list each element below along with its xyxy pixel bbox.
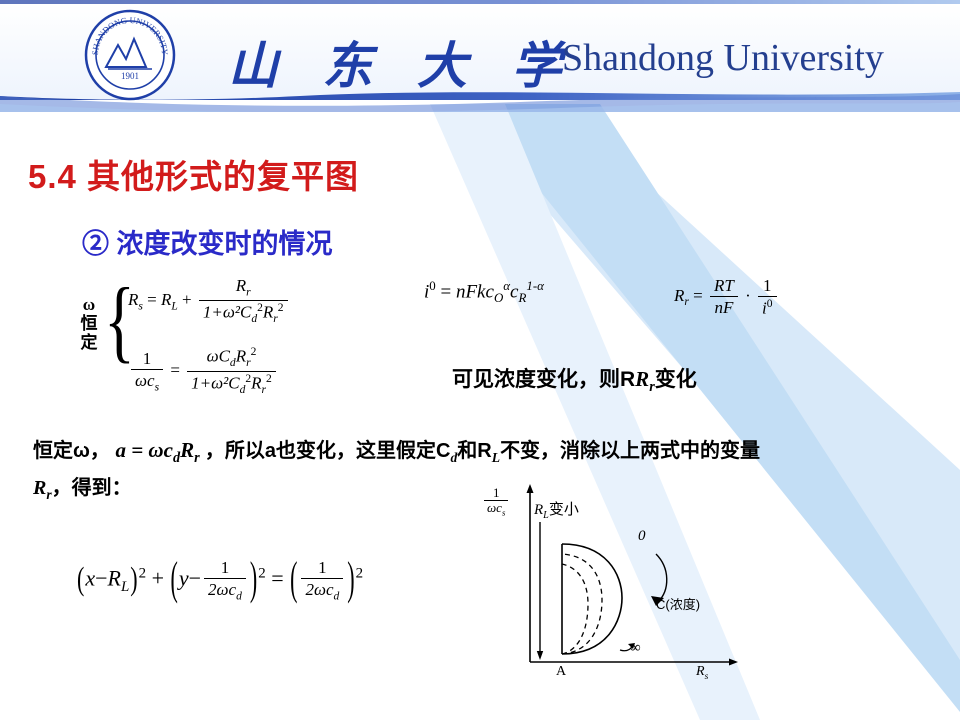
- eq5-fraction-right: 12ωcd: [301, 558, 343, 603]
- eq2-rhs-den: 1+ω²Cd2Rr2: [187, 372, 276, 397]
- para-mid: ，所以a也变化，这里假定C: [205, 440, 451, 462]
- eq1-frac-numerator: Rr: [199, 276, 288, 301]
- eq2-lhs-den: ωcs: [131, 370, 163, 394]
- equation-rr: Rr = RT nF · 1 i0: [674, 276, 780, 318]
- equation-exchange-current: i0 = nFkcOαcR1-α: [424, 278, 544, 306]
- eq2-equals: =: [170, 360, 180, 379]
- eq2-rhs-num: ωCdRr2: [187, 346, 276, 372]
- eq1-rl: R: [161, 290, 171, 309]
- eq4-f2-den: i0: [758, 297, 777, 318]
- eq4-fraction-2: 1 i0: [758, 276, 777, 318]
- para-mid3: 不变，消除以上两式中的变量: [500, 440, 760, 462]
- para-a-equation: a = ωcdRr: [115, 438, 204, 462]
- eq3-rhs: nFkc: [456, 281, 494, 302]
- eq1-rs-sub: s: [138, 299, 143, 312]
- diagram-infinity-label: ∞: [630, 640, 641, 657]
- omega-label-line2: 恒: [72, 314, 106, 333]
- svg-text:1901: 1901: [121, 71, 139, 81]
- eq1-frac-denominator: 1+ω²Cd2Rr2: [199, 301, 288, 326]
- eq1-rs: R: [128, 290, 138, 309]
- eq2-rhs-fraction: ωCdRr2 1+ω²Cd2Rr2: [187, 346, 276, 397]
- diagram-point-a-label: A: [556, 664, 566, 680]
- university-name-cn: 山 东 大 学: [228, 26, 578, 98]
- para-end: ，得到：: [52, 477, 132, 499]
- shandong-university-seal-icon: 1901 SHANDONG UNIVERSITY: [84, 9, 176, 101]
- para-rl-sub: L: [492, 440, 500, 462]
- complex-plane-diagram: 1 ωcs RL变小 0 C(浓度) ∞ A Rs: [470, 482, 760, 692]
- equation-inverse-omega-cs: 1 ωcs = ωCdRr2 1+ω²Cd2Rr2: [128, 346, 279, 397]
- section-title-text: 其他形式的复平图: [87, 158, 359, 195]
- equation-rs: Rs = RsL + Rr 1+ω²Cd2Rr2: [128, 276, 291, 326]
- eq1-equals: =: [147, 290, 157, 309]
- para-prefix: 恒定ω，: [33, 440, 110, 462]
- eq2-lhs-fraction: 1 ωcs: [131, 349, 163, 394]
- eq1-fraction: Rr 1+ω²Cd2Rr2: [199, 276, 288, 326]
- page-title: 5.4 其他形式的复平图: [28, 150, 359, 198]
- para-rr-symbol: Rr: [33, 477, 52, 499]
- note-concentration-change: 可见浓度变化，则RRr变化: [452, 363, 697, 396]
- diagram-zero-label: 0: [638, 528, 646, 545]
- eq5-fraction-left: 12ωcd: [204, 558, 246, 603]
- section-number: 5.4: [28, 158, 77, 195]
- para-mid2: 和R: [457, 440, 491, 462]
- slide-subtitle: ② 浓度改变时的情况: [82, 222, 333, 261]
- omega-symbol: ω: [72, 295, 106, 314]
- equation-circle: (x−RL)2 + (y−12ωcd)2 = (12ωcd)2: [76, 558, 363, 603]
- diagram-y-axis-label: 1 ωcs: [484, 486, 508, 519]
- eq1-rl-sub: L: [171, 299, 177, 312]
- diagram-concentration-label: C(浓度): [656, 594, 700, 613]
- university-name-en: Shandong University: [562, 36, 884, 80]
- diagram-rl-decrease-label: RL变小: [534, 498, 579, 521]
- eq1-plus: +: [182, 290, 192, 309]
- omega-label-line3: 定: [72, 333, 106, 352]
- eq4-fraction-1: RT nF: [710, 276, 738, 317]
- eq4-rr: R: [674, 286, 684, 305]
- diagram-x-axis-label: Rs: [696, 664, 708, 682]
- note-rr-symbol: Rr: [635, 367, 655, 391]
- omega-constant-label: ω 恒 定: [72, 295, 106, 352]
